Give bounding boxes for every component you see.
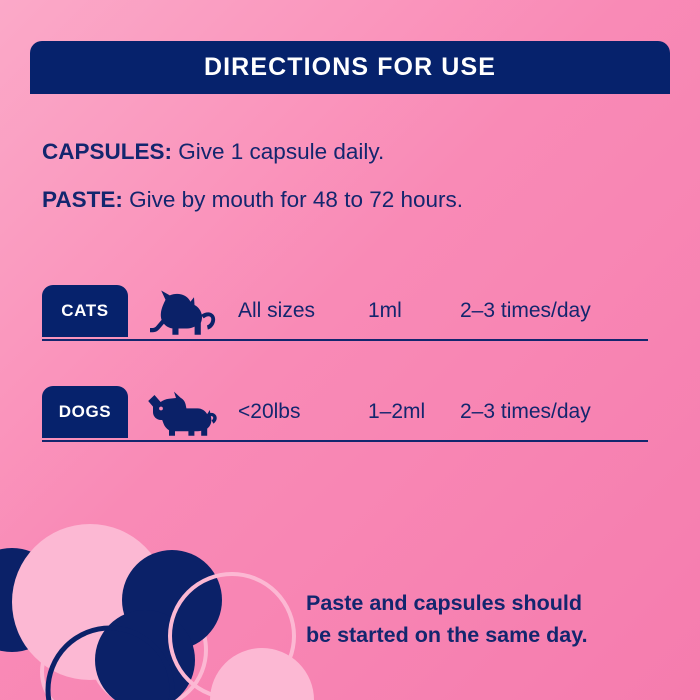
species-tab-cats: CATS [42,285,128,337]
cell-dose-cats: 1ml [368,299,402,323]
dog-icon [144,388,220,438]
footer-note-line-1: Paste and capsules should [306,588,666,620]
instruction-paste-text: Give by mouth for 48 to 72 hours. [123,187,463,212]
instruction-capsules: CAPSULES: Give 1 capsule daily. [42,139,384,165]
instruction-paste: PASTE: Give by mouth for 48 to 72 hours. [42,187,463,213]
row-underline-cats [42,339,648,341]
dosing-row-dogs: DOGS <20lbs 1–2ml 2–3 times/day [42,386,648,446]
cell-frequency-dogs: 2–3 times/day [460,400,591,424]
header-banner: DIRECTIONS FOR USE [30,41,670,94]
directions-for-use-card: DIRECTIONS FOR USE CAPSULES: Give 1 caps… [0,0,700,700]
cell-frequency-cats: 2–3 times/day [460,299,591,323]
footer-note-line-2: be started on the same day. [306,620,666,652]
instruction-capsules-text: Give 1 capsule daily. [172,139,384,164]
cell-size-dogs: <20lbs [238,400,300,424]
instruction-capsules-lead: CAPSULES: [42,139,172,164]
footer-note: Paste and capsules should be started on … [306,588,666,651]
instruction-paste-lead: PASTE: [42,187,123,212]
page-title: DIRECTIONS FOR USE [204,53,496,82]
species-tab-label-dogs: DOGS [59,402,111,422]
species-tab-label-cats: CATS [61,301,108,321]
cell-dose-dogs: 1–2ml [368,400,425,424]
cat-icon [144,287,220,337]
cell-size-cats: All sizes [238,299,315,323]
dosing-row-cats: CATS All sizes 1ml 2–3 times/day [42,285,648,345]
row-underline-dogs [42,440,648,442]
species-tab-dogs: DOGS [42,386,128,438]
